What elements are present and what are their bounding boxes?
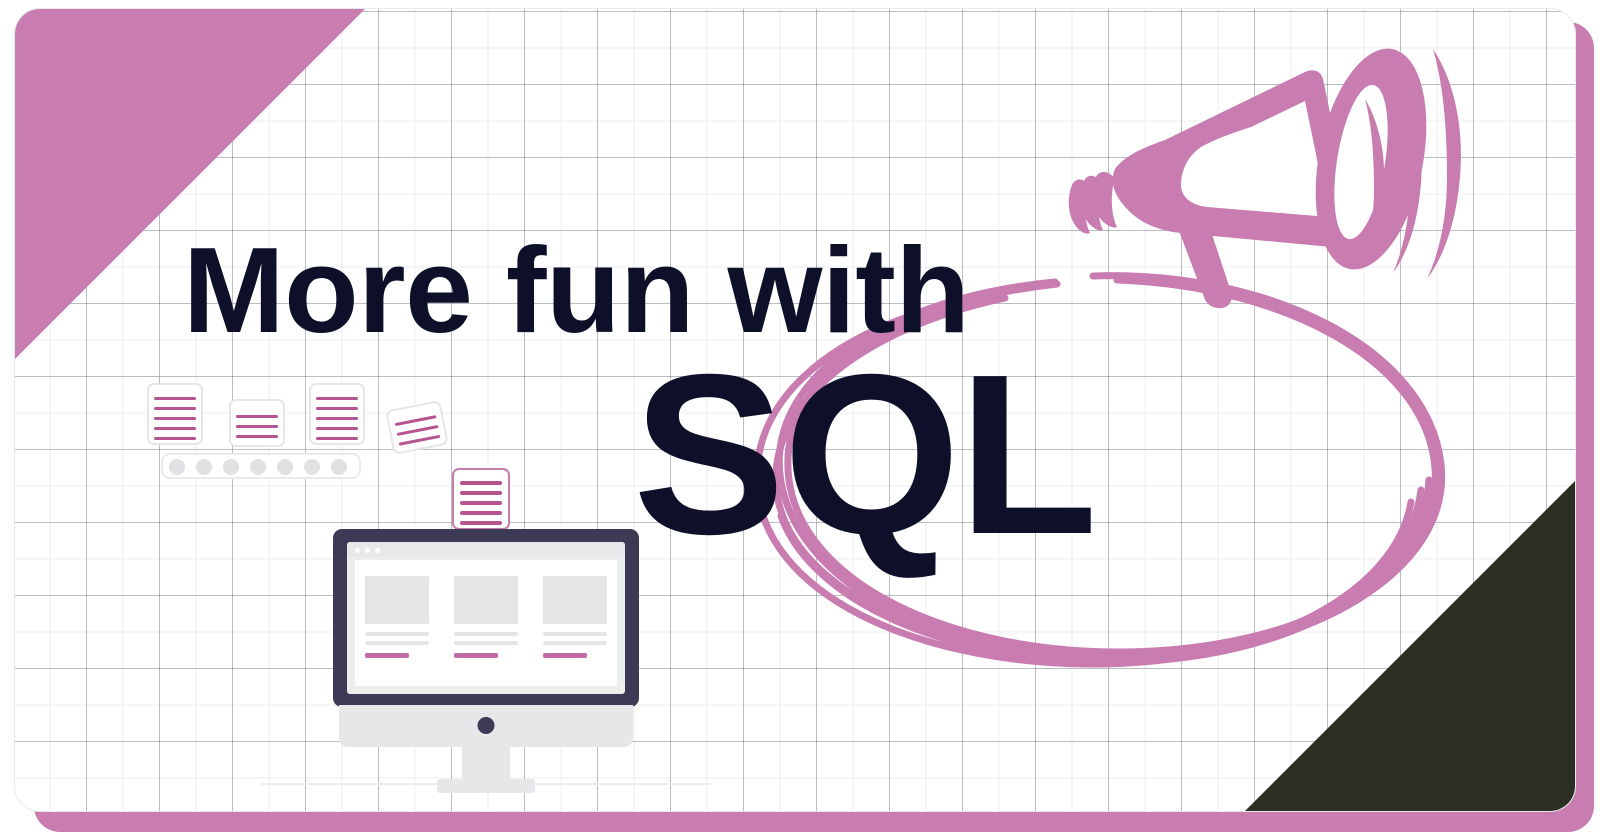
browser-page-content: [355, 560, 617, 686]
monitor-screen: [347, 542, 625, 694]
doc-card-icon: [309, 383, 365, 445]
headline-line-2: SQL: [633, 357, 1096, 553]
content-card: [454, 576, 518, 658]
accent-bar: [365, 653, 409, 658]
browser-dot-icon: [375, 548, 380, 553]
thumb-placeholder: [454, 576, 518, 624]
text-line-placeholder: [543, 632, 607, 636]
banner-card: More fun with SQL: [14, 8, 1576, 812]
text-line-placeholder: [543, 641, 607, 645]
monitor-foot: [437, 779, 535, 793]
dot-row: [161, 453, 361, 479]
text-line-placeholder: [365, 641, 429, 645]
monitor-stand: [462, 745, 510, 783]
text-line-placeholder: [365, 632, 429, 636]
text-line-placeholder: [454, 641, 518, 645]
accent-bar: [454, 653, 498, 658]
thumb-placeholder: [365, 576, 429, 624]
browser-title-bar: [347, 542, 625, 557]
sql-banner: More fun with SQL: [0, 0, 1600, 840]
doc-card-icon: [147, 383, 203, 445]
monitor-power-dot-icon: [478, 717, 495, 734]
thumb-placeholder: [543, 576, 607, 624]
dark-corner-triangle-icon: [1245, 481, 1575, 811]
document-cards-group: [141, 377, 461, 487]
browser-dot-icon: [355, 548, 360, 553]
content-card: [365, 576, 429, 658]
floating-doc-icon: [452, 468, 510, 530]
accent-bar: [543, 653, 587, 658]
megaphone-icon: [1055, 27, 1485, 337]
monitor-bezel: [333, 529, 639, 707]
text-line-placeholder: [454, 632, 518, 636]
doc-card-tilted-icon: [385, 400, 449, 455]
browser-dot-icon: [365, 548, 370, 553]
content-card: [543, 576, 607, 658]
doc-card-icon: [229, 399, 285, 447]
desktop-monitor-icon: [333, 529, 639, 799]
